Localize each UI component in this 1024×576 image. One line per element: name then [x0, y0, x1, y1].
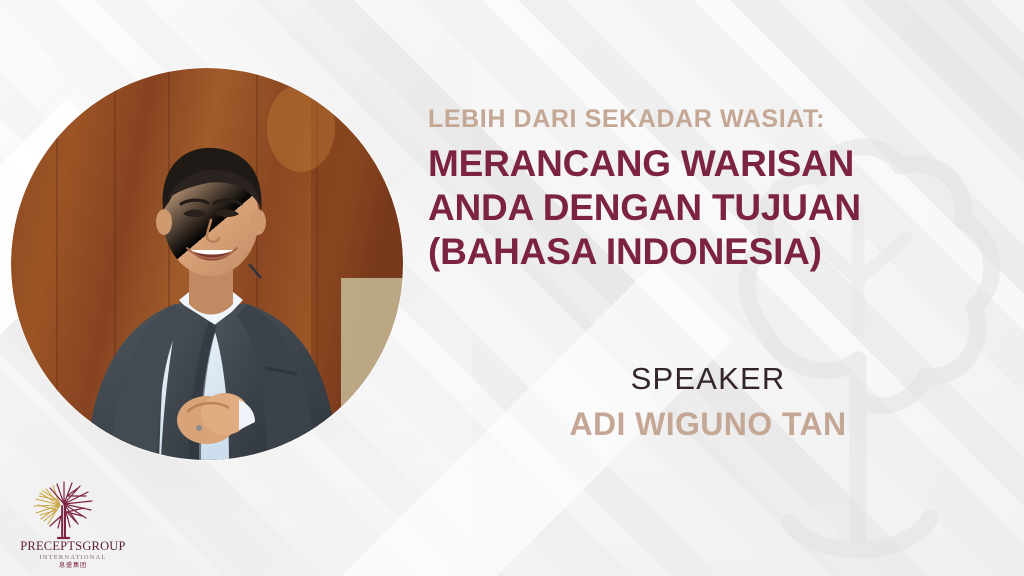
logo-wordmark-primary: PRECEPTSGROUP — [20, 539, 125, 553]
logo-wordmark-secondary: INTERNATIONAL — [39, 554, 106, 561]
title-headline-line-3: (BAHASA INDONESIA) — [428, 230, 988, 274]
title-headline-line-1: MERANCANG WARISAN — [428, 142, 988, 186]
presentation-slide: LEBIH DARI SEKADAR WASIAT: MERANCANG WAR… — [0, 0, 1024, 576]
preceptsgroup-logo: PRECEPTSGROUP INTERNATIONAL 息盛集团 — [14, 472, 132, 568]
speaker-label: SPEAKER — [428, 360, 988, 399]
speaker-block: SPEAKER ADI WIGUNO TAN — [428, 360, 988, 443]
speaker-name: ADI WIGUNO TAN — [428, 405, 988, 443]
title-headline: MERANCANG WARISAN ANDA DENGAN TUJUAN (BA… — [428, 142, 988, 274]
title-eyebrow: LEBIH DARI SEKADAR WASIAT: — [428, 104, 988, 135]
title-block: LEBIH DARI SEKADAR WASIAT: MERANCANG WAR… — [428, 104, 988, 274]
speaker-portrait — [11, 68, 403, 460]
title-headline-line-2: ANDA DENGAN TUJUAN — [428, 186, 988, 230]
logo-wordmark-chinese: 息盛集团 — [59, 561, 87, 568]
